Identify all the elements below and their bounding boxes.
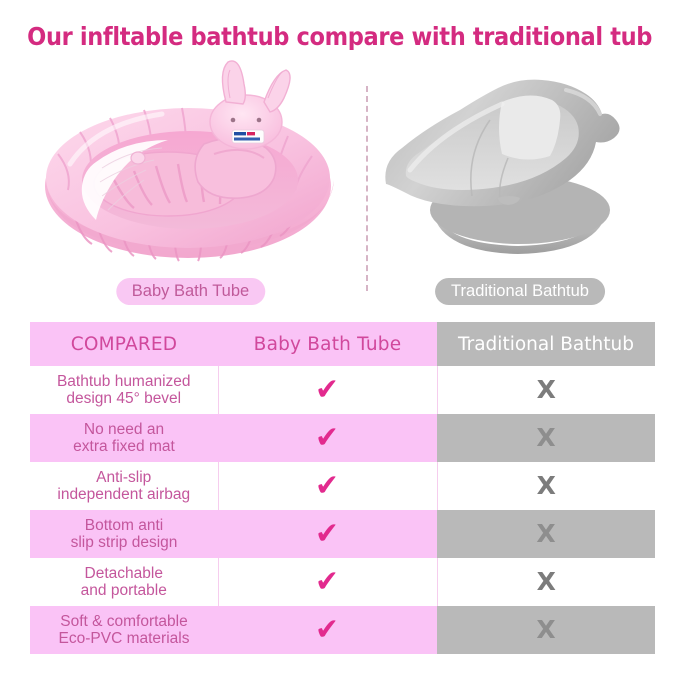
row-label: Detachable and portable bbox=[30, 558, 218, 606]
row-label-line1: Detachable bbox=[36, 565, 212, 582]
row-label-line1: Bottom anti bbox=[36, 517, 212, 534]
cell-traditional-bathtub: X bbox=[437, 414, 655, 462]
comparison-table: COMPARED Baby Bath Tube Traditional Bath… bbox=[30, 322, 655, 654]
cell-baby-bath-tube: ✔ bbox=[218, 510, 437, 558]
cell-traditional-bathtub: X bbox=[437, 558, 655, 606]
row-label: No need an extra fixed mat bbox=[30, 414, 218, 462]
row-label-line1: Bathtub humanized bbox=[36, 373, 212, 390]
row-label-line2: independent airbag bbox=[36, 486, 212, 503]
check-icon: ✔ bbox=[315, 614, 341, 644]
cell-baby-bath-tube: ✔ bbox=[218, 414, 437, 462]
row-label-line2: slip strip design bbox=[36, 534, 212, 551]
cell-baby-bath-tube: ✔ bbox=[218, 462, 437, 510]
check-icon: ✔ bbox=[315, 566, 341, 596]
caption-pill-baby-bath-tube: Baby Bath Tube bbox=[116, 278, 265, 306]
x-icon: X bbox=[537, 473, 556, 498]
table-header-row: COMPARED Baby Bath Tube Traditional Bath… bbox=[30, 322, 655, 366]
check-icon: ✔ bbox=[315, 422, 341, 452]
row-label: Anti-slip independent airbag bbox=[30, 462, 218, 510]
page-title: Our infltable bathtub compare with tradi… bbox=[27, 22, 652, 51]
column-header-baby-bath-tube: Baby Bath Tube bbox=[218, 322, 437, 366]
x-icon: X bbox=[537, 377, 556, 402]
cell-baby-bath-tube: ✔ bbox=[218, 606, 437, 654]
x-icon: X bbox=[537, 569, 556, 594]
gray-traditional-plastic-bathtub-svg bbox=[370, 58, 670, 273]
table-row: Bathtub humanized design 45° bevel ✔ X bbox=[30, 366, 655, 414]
row-label-line2: extra fixed mat bbox=[36, 438, 212, 455]
column-header-traditional-bathtub: Traditional Bathtub bbox=[437, 322, 655, 366]
gray-traditional-plastic-bathtub-image bbox=[370, 58, 670, 273]
table-row: Soft & comfortable Eco-PVC materials ✔ X bbox=[30, 606, 655, 654]
cell-baby-bath-tube: ✔ bbox=[218, 558, 437, 606]
cell-traditional-bathtub: X bbox=[437, 462, 655, 510]
row-label-line1: Anti-slip bbox=[36, 469, 212, 486]
check-icon: ✔ bbox=[315, 374, 341, 404]
table-row: Bottom anti slip strip design ✔ X bbox=[30, 510, 655, 558]
table-row: No need an extra fixed mat ✔ X bbox=[30, 414, 655, 462]
x-icon: X bbox=[536, 521, 555, 546]
check-icon: ✔ bbox=[315, 518, 341, 548]
column-header-compared: COMPARED bbox=[30, 322, 218, 366]
product-showcase: Baby Bath Tube bbox=[0, 58, 679, 313]
row-label: Bottom anti slip strip design bbox=[30, 510, 218, 558]
row-label-line1: No need an bbox=[36, 421, 212, 438]
cell-baby-bath-tube: ✔ bbox=[218, 366, 437, 414]
caption-pill-traditional-bathtub: Traditional Bathtub bbox=[435, 278, 605, 306]
table-row: Anti-slip independent airbag ✔ X bbox=[30, 462, 655, 510]
dashed-vertical-divider bbox=[366, 86, 368, 291]
row-label-line1: Soft & comfortable bbox=[36, 613, 212, 630]
product-pane-baby-tub: Baby Bath Tube bbox=[18, 58, 363, 313]
row-label-line2: design 45° bevel bbox=[36, 390, 212, 407]
row-label-line2: Eco-PVC materials bbox=[36, 630, 212, 647]
table-row: Detachable and portable ✔ X bbox=[30, 558, 655, 606]
cell-traditional-bathtub: X bbox=[437, 606, 655, 654]
row-label-line2: and portable bbox=[36, 582, 212, 599]
pink-inflatable-baby-bathtub-image bbox=[18, 58, 363, 273]
product-pane-traditional-tub: Traditional Bathtub bbox=[370, 58, 670, 313]
check-icon: ✔ bbox=[315, 470, 341, 500]
cell-traditional-bathtub: X bbox=[437, 366, 655, 414]
x-icon: X bbox=[536, 617, 555, 642]
x-icon: X bbox=[536, 425, 555, 450]
cell-traditional-bathtub: X bbox=[437, 510, 655, 558]
row-label: Bathtub humanized design 45° bevel bbox=[30, 366, 218, 414]
pink-inflatable-baby-bathtub-svg bbox=[18, 58, 363, 273]
row-label: Soft & comfortable Eco-PVC materials bbox=[30, 606, 218, 654]
